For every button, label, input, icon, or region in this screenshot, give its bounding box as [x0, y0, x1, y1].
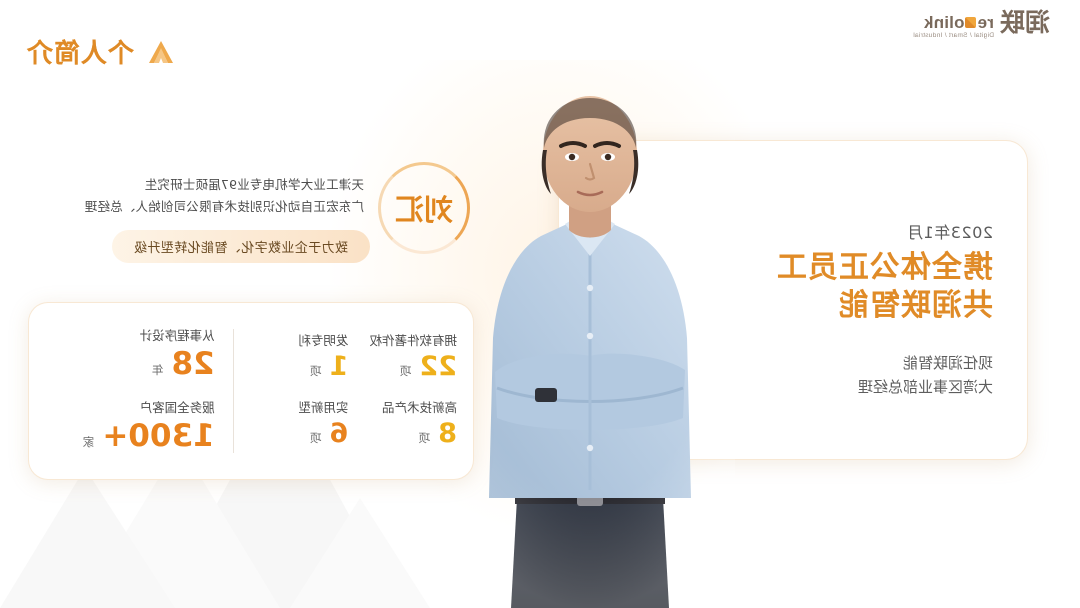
logo-latin-prefix: re: [978, 14, 994, 31]
stat-unit: 项: [310, 364, 322, 378]
stat-label: 从事程序设计: [39, 328, 215, 344]
stats-left-group: 拥有软件著作权 22 项 发明专利 1 项 高新技术产品 8 项: [240, 333, 457, 450]
stat-label: 实用新型: [240, 400, 349, 416]
subtitle-line-1: 现任润联智能: [693, 351, 993, 375]
card-subtitle: 现任润联智能 大湾区事业部总经理: [693, 351, 993, 399]
stats-card: 拥有软件著作权 22 项 发明专利 1 项 高新技术产品 8 项: [28, 302, 474, 480]
logo-latin-text: re olink: [913, 14, 994, 31]
stat-value: 8: [438, 418, 457, 449]
slide-canvas: 润联 re olink Digital / Smart / Industrial…: [0, 0, 1080, 608]
stat-unit: 年: [152, 363, 164, 377]
stats-divider: [233, 329, 234, 453]
section-header: 个人简介: [26, 33, 176, 70]
stat-item: 拥有软件著作权 22 项: [348, 333, 457, 382]
stat-label: 服务全国客户: [39, 400, 215, 416]
brand-logo: 润联 re olink Digital / Smart / Industrial: [913, 10, 1050, 40]
stat-item: 高新技术产品 8 项: [348, 400, 457, 449]
stat-value: 28: [172, 346, 215, 382]
stat-unit: 家: [83, 435, 95, 449]
stat-label: 拥有软件著作权: [348, 333, 457, 349]
stat-value: 1300+: [102, 418, 214, 454]
stat-value: 22: [419, 351, 457, 382]
stat-label: 高新技术产品: [348, 400, 457, 416]
stat-unit: 项: [400, 364, 412, 378]
logo-square-icon: [966, 17, 977, 28]
headline-line-2: 共润联智能: [693, 287, 993, 325]
stat-item: 服务全国客户 1300+ 家: [39, 400, 215, 454]
bio-line-position: 广东宏正自动化识别技术有限公司创始人、总经理: [30, 196, 364, 218]
bio-tagline-pill: 致力于企业数字化、智能化转型升级: [112, 230, 370, 263]
page-title: 个人简介: [26, 33, 134, 70]
stat-label: 发明专利: [240, 333, 349, 349]
stat-value: 6: [330, 418, 349, 449]
stat-unit: 项: [310, 431, 322, 445]
logo-tagline: Digital / Smart / Industrial: [913, 33, 994, 40]
headline-line-1: 携全体公正员工: [693, 249, 993, 287]
logo-chinese-text: 润联: [1000, 10, 1050, 35]
bio-block: 刘汇 天津工业大学机电专业97届硕士研究生 广东宏正自动化识别技术有限公司创始人…: [30, 160, 470, 263]
stats-right-group: 从事程序设计 28 年 服务全国客户 1300+ 家: [39, 328, 219, 455]
stat-unit: 项: [419, 431, 431, 445]
chevron-mark-icon: [146, 39, 176, 65]
stat-item: 发明专利 1 项: [240, 333, 349, 382]
portrait-photo: [445, 88, 735, 608]
stat-item: 从事程序设计 28 年: [39, 328, 215, 382]
name-badge: 刘汇: [378, 162, 470, 254]
stat-item: 实用新型 6 项: [240, 400, 349, 449]
bio-line-education: 天津工业大学机电专业97届硕士研究生: [30, 174, 364, 196]
badge-name-text: 刘汇: [395, 187, 453, 229]
logo-latin-suffix: olink: [924, 14, 965, 31]
card-headline: 携全体公正员工 共润联智能: [693, 249, 993, 325]
stat-value: 1: [330, 351, 349, 382]
card-date: 2023年1月: [693, 219, 993, 243]
subtitle-line-2: 大湾区事业部总经理: [693, 375, 993, 399]
